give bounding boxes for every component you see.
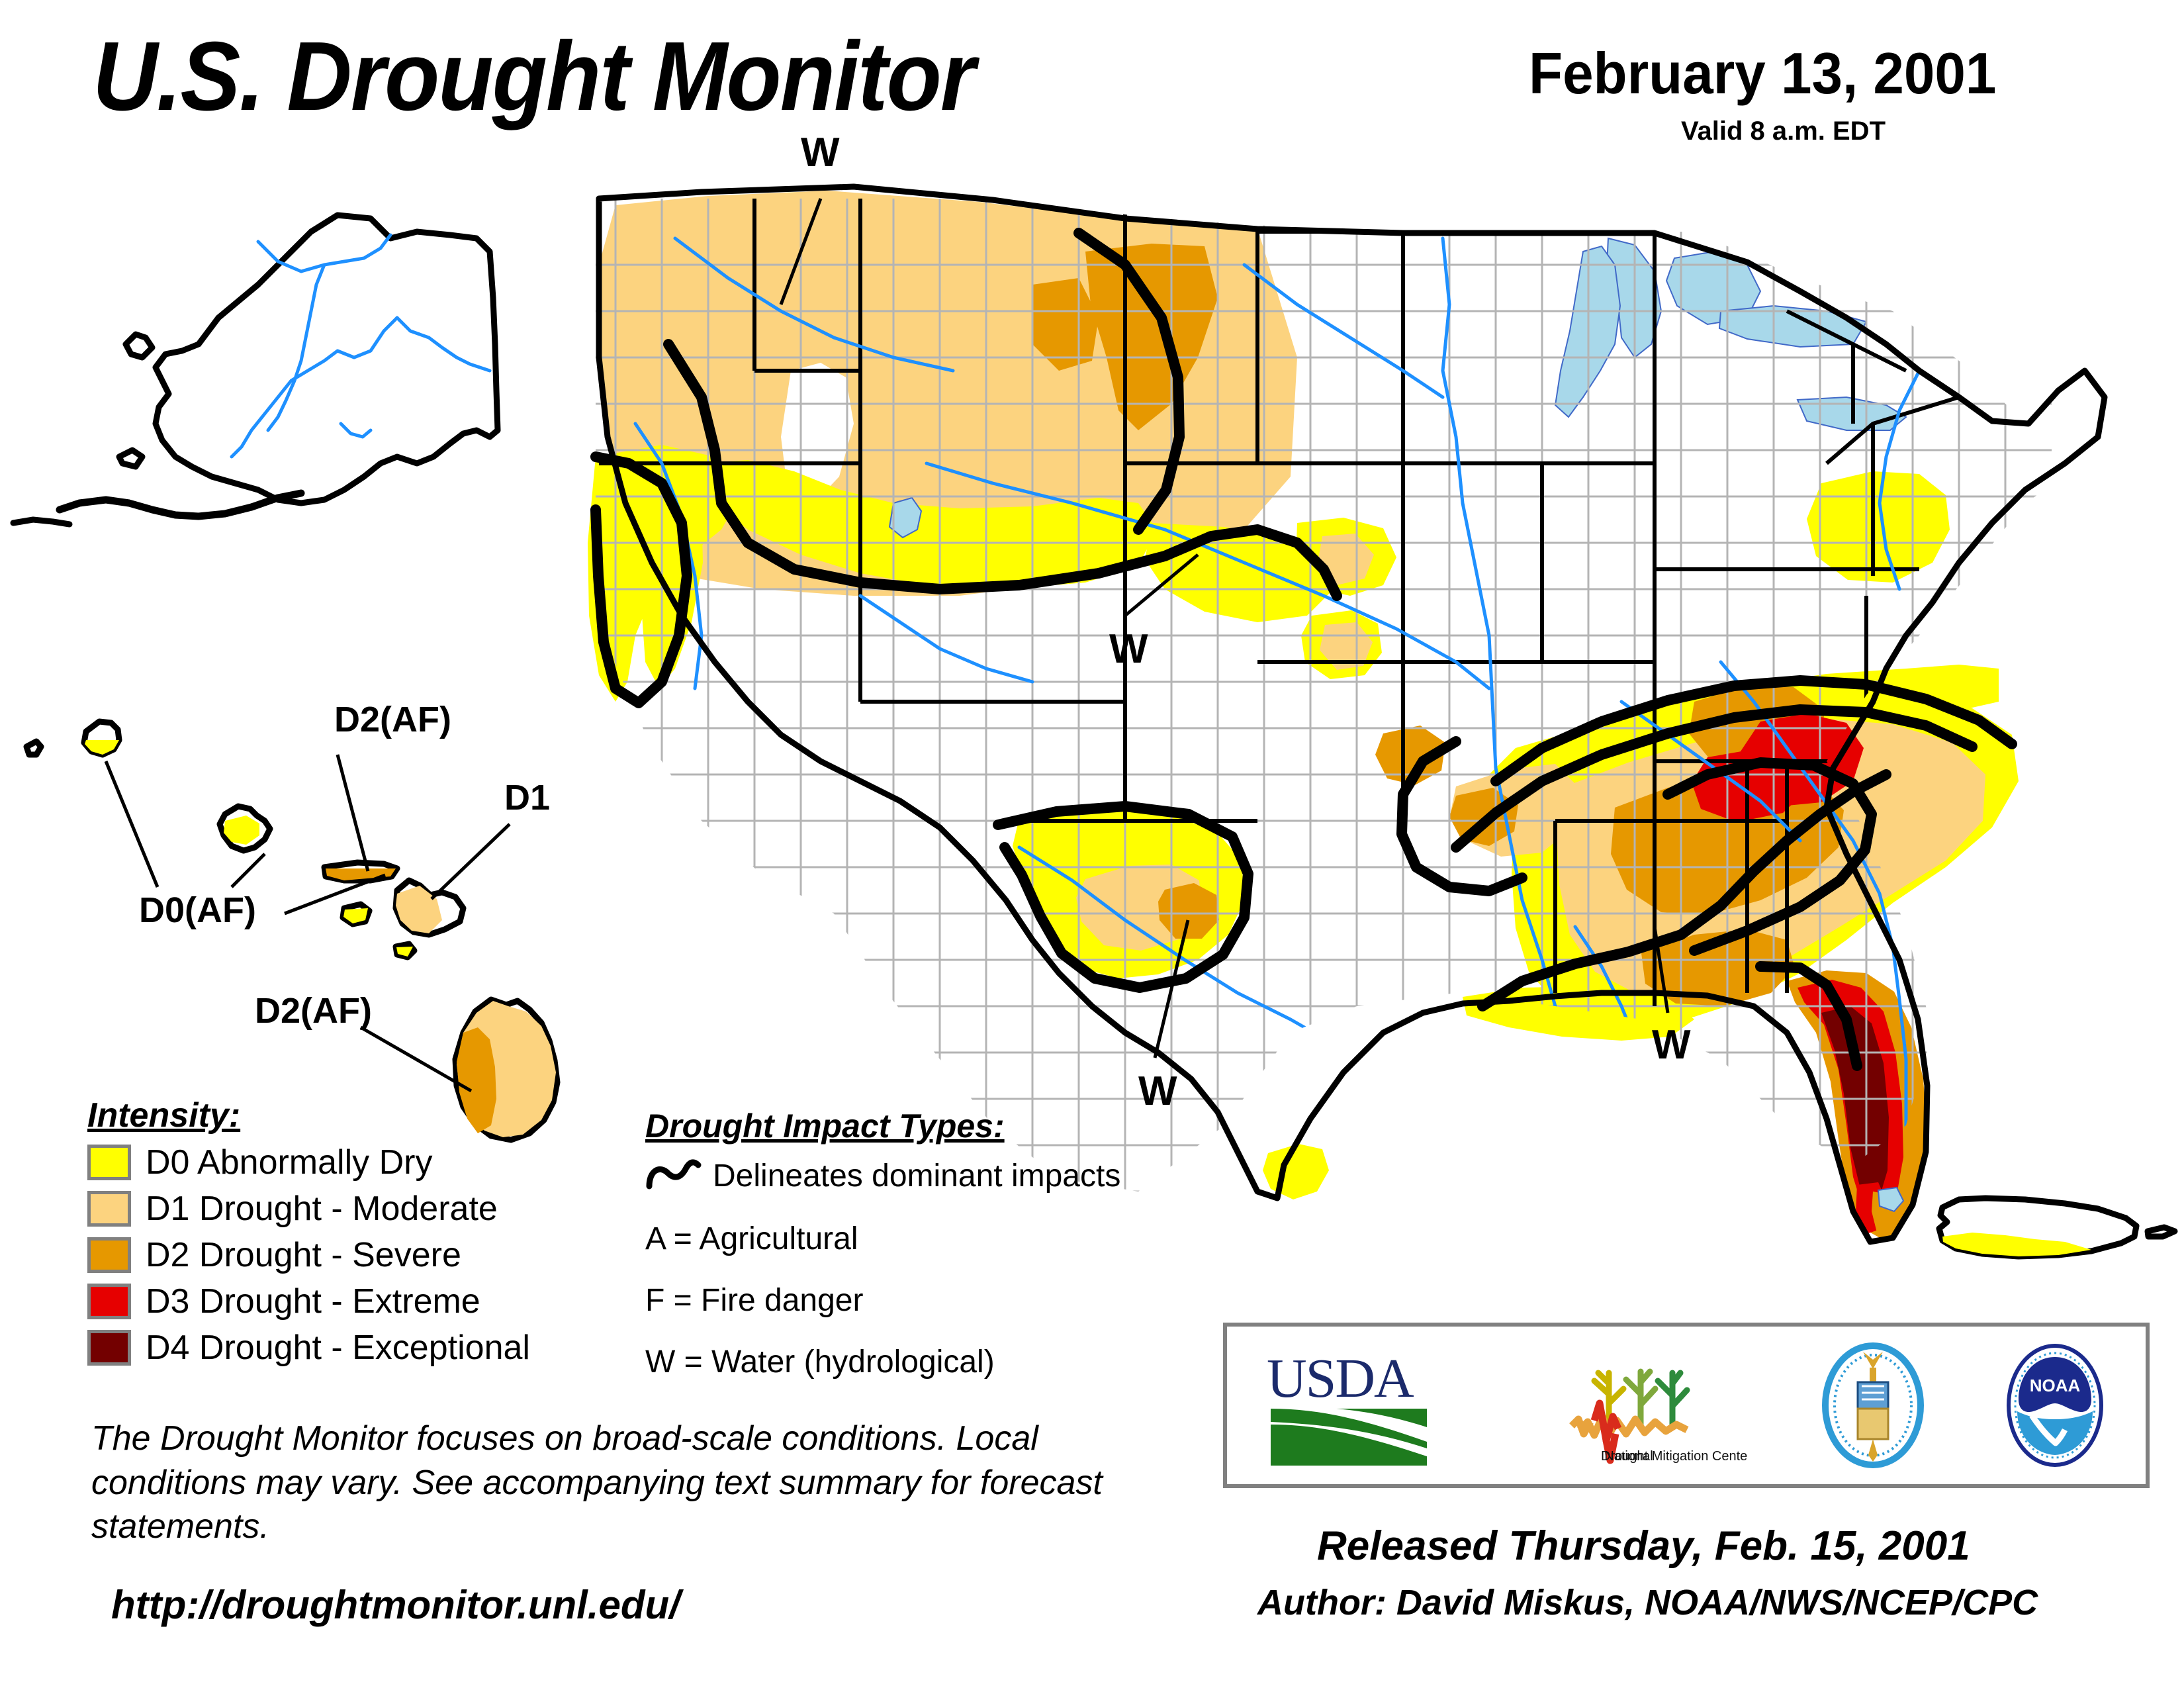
impact-type-agricultural: A = Agricultural xyxy=(645,1221,1120,1257)
impacts-delineation-row: Delineates dominant impacts xyxy=(645,1156,1120,1196)
w-marker-central: W xyxy=(1109,629,1148,670)
swatch-d1-icon xyxy=(87,1191,131,1227)
valid-time: Valid 8 a.m. EDT xyxy=(1681,117,1886,146)
legend-label-d0: D0 Abnormally Dry xyxy=(146,1143,432,1182)
noaa-logo: NOAA xyxy=(1999,1342,2111,1468)
w-marker-texas: W xyxy=(1138,1071,1177,1112)
legend-label-d2: D2 Drought - Severe xyxy=(146,1235,461,1275)
squiggle-icon xyxy=(645,1156,702,1196)
legend-row-d3: D3 Drought - Extreme xyxy=(87,1280,530,1323)
callout-d0af: D0(AF) xyxy=(139,892,256,928)
callout-d2af-hawaii: D2(AF) xyxy=(255,993,372,1029)
swatch-d3-icon xyxy=(87,1284,131,1319)
author-credit: Author: David Miskus, NOAA/NWS/NCEP/CPC xyxy=(1257,1582,2038,1623)
map-date: February 13, 2001 xyxy=(1529,40,1996,107)
legend-row-d0: D0 Abnormally Dry xyxy=(87,1141,530,1184)
release-date: Released Thursday, Feb. 15, 2001 xyxy=(1317,1523,1970,1570)
swatch-d4-icon xyxy=(87,1330,131,1366)
impact-type-fire: F = Fire danger xyxy=(645,1282,1120,1319)
callout-d2af-molokai: D2(AF) xyxy=(334,702,451,737)
ndmc-logo: National Drought Mitigation Center xyxy=(1510,1342,1748,1468)
swatch-d2-icon xyxy=(87,1237,131,1273)
usda-logo: USDA xyxy=(1261,1342,1440,1468)
website-url[interactable]: http://droughtmonitor.unl.edu/ xyxy=(111,1582,680,1628)
swatch-d0-icon xyxy=(87,1145,131,1180)
hawaii-inset xyxy=(26,722,557,1140)
legend-label-d4: D4 Drought - Exceptional xyxy=(146,1328,530,1368)
w-marker-southeast: W xyxy=(1652,1025,1691,1066)
drought-impact-types: Drought Impact Types: Delineates dominan… xyxy=(645,1107,1120,1380)
callout-d1-maui: D1 xyxy=(504,780,550,816)
legend-row-d4: D4 Drought - Exceptional xyxy=(87,1326,530,1370)
department-of-commerce-seal xyxy=(1817,1342,1929,1468)
legend-row-d2: D2 Drought - Severe xyxy=(87,1233,530,1277)
impacts-title: Drought Impact Types: xyxy=(645,1107,1120,1145)
legend-label-d3: D3 Drought - Extreme xyxy=(146,1282,480,1321)
svg-text:USDA: USDA xyxy=(1267,1348,1414,1409)
page-title: U.S. Drought Monitor xyxy=(93,28,974,126)
legend-label-d1: D1 Drought - Moderate xyxy=(146,1189,498,1229)
legend-title: Intensity: xyxy=(87,1096,530,1135)
intensity-legend: Intensity: D0 Abnormally Dry D1 Drought … xyxy=(87,1096,530,1372)
w-marker-northwest: W xyxy=(801,132,840,173)
impact-type-water: W = Water (hydrological) xyxy=(645,1344,1120,1380)
svg-text:NOAA: NOAA xyxy=(2029,1376,2080,1395)
alaska-inset xyxy=(13,215,498,524)
svg-text:Drought Mitigation Center: Drought Mitigation Center xyxy=(1601,1449,1748,1464)
impacts-delineation-label: Delineates dominant impacts xyxy=(713,1158,1120,1194)
legend-row-d1: D1 Drought - Moderate xyxy=(87,1187,530,1231)
puerto-rico-inset xyxy=(1939,1198,2175,1256)
disclaimer-text: The Drought Monitor focuses on broad-sca… xyxy=(91,1417,1177,1549)
sponsor-logo-box: USDA National Drought Mitigation Center xyxy=(1223,1323,2150,1488)
